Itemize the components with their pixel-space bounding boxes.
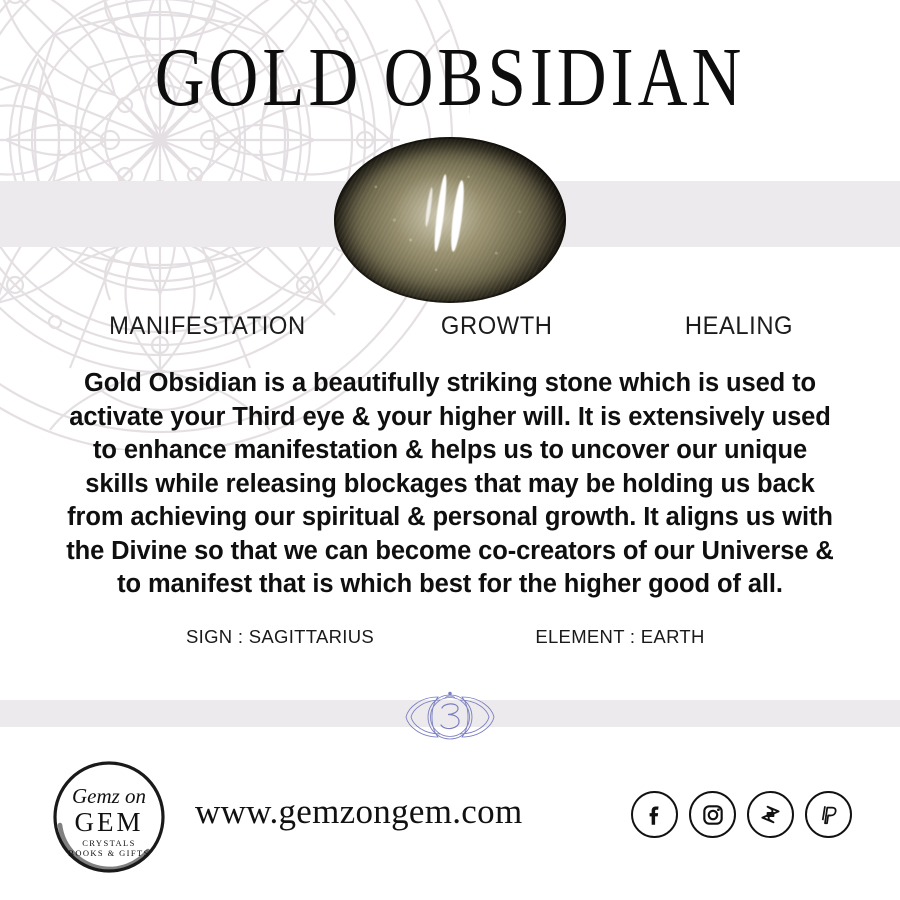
page-title: GOLD OBSIDIAN: [0, 33, 900, 121]
brand-logo[interactable]: Gemz on GEM CRYSTALS BOOKS & GIFTS: [48, 757, 170, 879]
social-links: [631, 791, 852, 838]
instagram-icon[interactable]: [689, 791, 736, 838]
mercari-icon[interactable]: [747, 791, 794, 838]
keyword-manifestation: MANIFESTATION: [109, 312, 306, 341]
crystal-info-card: GOLD OBSIDIAN MANIFESTATION GROWTH HEALI…: [0, 0, 900, 900]
website-url[interactable]: www.gemzongem.com: [195, 792, 522, 832]
zodiac-sign-label: SIGN : SAGITTARIUS: [186, 626, 374, 647]
description-text: Gold Obsidian is a beautifully striking …: [58, 367, 842, 602]
logo-main-text: GEM: [75, 807, 144, 837]
third-eye-chakra-icon: [405, 686, 495, 748]
logo-tagline-1: CRYSTALS: [82, 838, 136, 848]
facebook-icon[interactable]: [631, 791, 678, 838]
zodiac-sign: SIGN : SAGITTARIUS: [110, 626, 450, 648]
stone-rim: [334, 137, 566, 303]
keyword-row: MANIFESTATION GROWTH HEALING: [0, 312, 900, 341]
stone-image: [334, 137, 566, 303]
paypal-icon[interactable]: [805, 791, 852, 838]
logo-script-text: Gemz on: [72, 784, 146, 808]
logo-tagline-2: BOOKS & GIFTS: [68, 848, 150, 858]
element-label: ELEMENT : EARTH: [535, 626, 704, 647]
attributes-row: SIGN : SAGITTARIUS ELEMENT : EARTH: [0, 626, 900, 648]
keyword-growth: GROWTH: [441, 312, 553, 341]
element: ELEMENT : EARTH: [450, 626, 790, 648]
keyword-healing: HEALING: [685, 312, 793, 341]
